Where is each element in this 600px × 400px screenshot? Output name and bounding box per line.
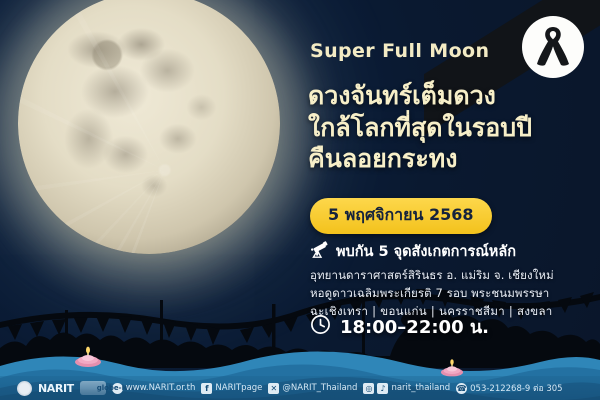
clock-icon (310, 314, 331, 340)
x-link[interactable]: ✕ @NARIT_Thailand (268, 383, 357, 394)
globe-icon: globe-icon (112, 383, 123, 394)
page-title: ดวงจันทร์เต็มดวง ใกล้โลกที่สุดในรอบปี คื… (308, 80, 594, 175)
telescope-icon (310, 241, 329, 262)
venue-block: พบกัน 5 จุดสังเกตการณ์หลัก อุทยานดาราศาส… (310, 240, 595, 320)
headline-line-2: ใกล้โลกที่สุดในรอบปี (308, 112, 594, 144)
facebook-link[interactable]: f NARITpage (201, 383, 262, 394)
eyebrow-title: Super Full Moon (310, 40, 489, 62)
x-label: @NARIT_Thailand (282, 383, 357, 393)
royal-seal-logo (17, 381, 32, 396)
phone-info[interactable]: ☎ 053-212268-9 ต่อ 305 (456, 381, 562, 395)
venue-line-2: หอดูดาวเฉลิมพระเกียรติ 7 รอบ พระชนมพรรษา (310, 285, 595, 303)
venue-heading-row: พบกัน 5 จุดสังเกตการณ์หลัก (310, 240, 595, 263)
poster-canvas: Super Full Moon ดวงจันทร์เต็มดวง ใกล้โลก… (0, 0, 600, 400)
headline-line-3: คืนลอยกระทง (308, 143, 594, 175)
phone-label: 053-212268-9 ต่อ 305 (470, 381, 562, 395)
facebook-label: NARITpage (215, 383, 262, 393)
time-row: 18:00–22:00 น. (310, 312, 489, 341)
text-column: Super Full Moon ดวงจันทร์เต็มดวง ใกล้โลก… (300, 0, 600, 400)
instagram-icon: ◎ (363, 383, 374, 394)
headline-line-1: ดวงจันทร์เต็มดวง (308, 80, 594, 112)
narit-logo: NARIT (38, 382, 74, 395)
moon-ray-overlay (18, 0, 280, 254)
venue-line-1: อุทยานดาราศาสตร์สิรินธร อ. แม่ริม จ. เชี… (310, 267, 595, 285)
date-badge: 5 พฤศจิกายน 2568 (310, 198, 492, 234)
x-icon: ✕ (268, 383, 279, 394)
social-handle-label: narit_thailand (391, 383, 450, 393)
phone-icon: ☎ (456, 383, 467, 394)
time-text: 18:00–22:00 น. (340, 312, 489, 341)
tiktok-icon: ♪ (377, 383, 388, 394)
website-link[interactable]: globe-icon www.NARIT.or.th (112, 383, 196, 394)
footer-bar: NARIT globe-icon www.NARIT.or.th f NARIT… (0, 376, 600, 400)
venue-heading-text: พบกัน 5 จุดสังเกตการณ์หลัก (336, 240, 516, 263)
website-label: www.NARIT.or.th (126, 383, 196, 393)
full-moon-image (18, 0, 280, 254)
facebook-icon: f (201, 383, 212, 394)
social-handle-group[interactable]: ◎ ♪ narit_thailand (363, 383, 450, 394)
